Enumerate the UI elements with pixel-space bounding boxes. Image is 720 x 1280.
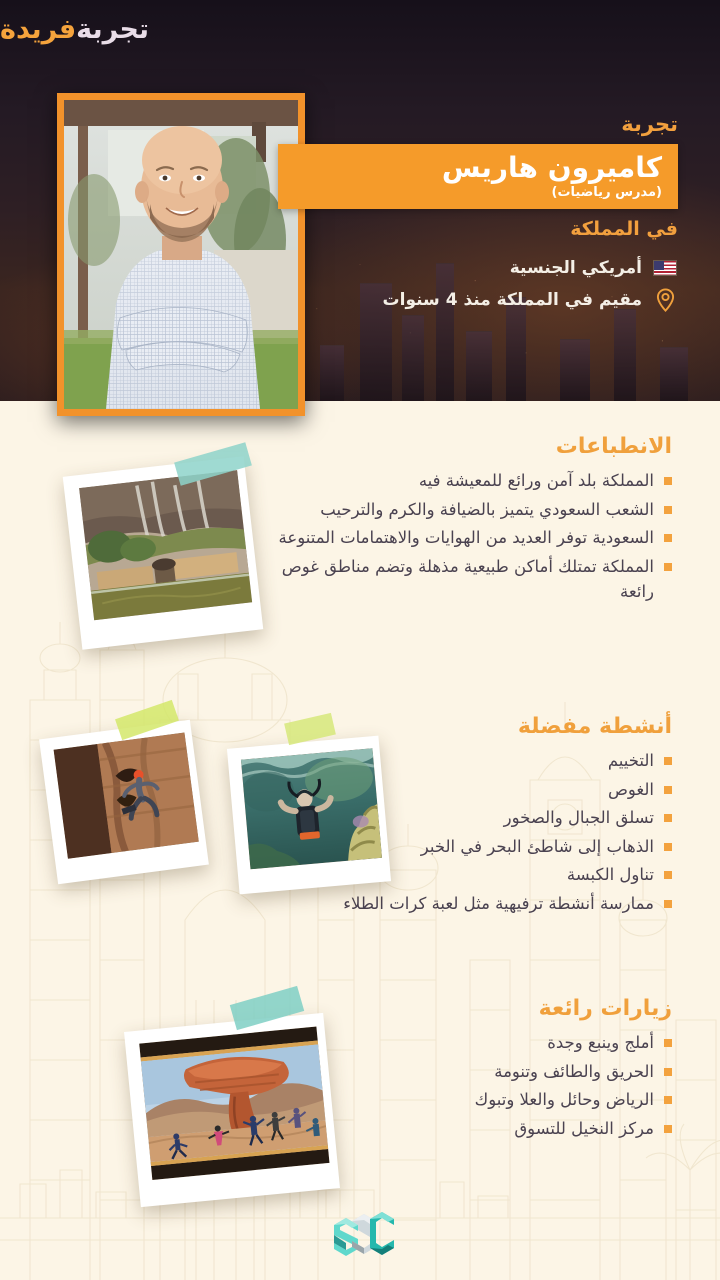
polaroid-diving-photo bbox=[241, 748, 382, 869]
polaroid-diving bbox=[227, 736, 391, 895]
fact-residence-text: مقيم في المملكة منذ 4 سنوات bbox=[383, 290, 642, 310]
polaroid-climbing-photo bbox=[54, 733, 199, 859]
section-title-impressions: الانطباعات bbox=[272, 434, 672, 459]
fact-residence: مقيم في المملكة منذ 4 سنوات bbox=[278, 289, 678, 311]
list-item: المملكة بلد آمن ورائع للمعيشة فيه bbox=[272, 468, 672, 494]
fact-nationality-text: أمريكي الجنسية bbox=[510, 258, 642, 278]
person-name: كاميرون هاريس bbox=[294, 152, 662, 184]
polaroid-rock-photo bbox=[139, 1027, 329, 1180]
hero-info: تجربة كاميرون هاريس (مدرس رياضيات) في ال… bbox=[278, 112, 678, 321]
section-impressions: الانطباعات المملكة بلد آمن ورائع للمعيشة… bbox=[272, 434, 672, 608]
sbc-logo bbox=[330, 1205, 396, 1263]
location-pin-icon bbox=[652, 289, 678, 311]
skyline-tower bbox=[660, 347, 688, 401]
impressions-list: المملكة بلد آمن ورائع للمعيشة فيه الشعب … bbox=[272, 468, 672, 605]
list-item: الشعب السعودي يتميز بالضيافة والكرم والت… bbox=[272, 497, 672, 523]
hero-facts: أمريكي الجنسية مقيم في المملكة منذ 4 سنو… bbox=[278, 257, 678, 311]
skyline-tower bbox=[402, 315, 424, 401]
list-item: ممارسة أنشطة ترفيهية مثل لعبة كرات الطلا… bbox=[272, 891, 672, 917]
fact-nationality: أمريكي الجنسية bbox=[278, 257, 678, 279]
name-banner: كاميرون هاريس (مدرس رياضيات) bbox=[278, 144, 678, 209]
polaroid-waterfall bbox=[63, 456, 264, 649]
portrait-frame bbox=[57, 93, 305, 416]
list-item: أملج وينبع وجدة bbox=[272, 1030, 672, 1056]
infographic-page: تجربةفريدة bbox=[0, 0, 720, 1280]
in-kingdom-label: في المملكة bbox=[278, 218, 678, 240]
skyline-tower bbox=[320, 345, 344, 401]
us-flag-icon bbox=[652, 257, 678, 279]
list-item: المملكة تمتلك أماكن طبيعية مذهلة وتضم من… bbox=[272, 554, 672, 605]
skyline-tower bbox=[466, 331, 492, 401]
section-title-visits: زيارات رائعة bbox=[272, 996, 672, 1021]
page-title-light: تجربة bbox=[76, 14, 149, 45]
page-title: تجربةفريدة bbox=[0, 14, 690, 45]
polaroid-waterfall-photo bbox=[79, 470, 252, 620]
page-title-accent: فريدة bbox=[0, 14, 76, 45]
person-role: (مدرس رياضيات) bbox=[294, 185, 662, 200]
experience-label: تجربة bbox=[278, 112, 678, 137]
list-item: السعودية توفر العديد من الهوايات والاهتم… bbox=[272, 525, 672, 551]
skyline-tower bbox=[614, 309, 636, 401]
portrait-photo bbox=[64, 100, 298, 409]
skyline-tower bbox=[560, 339, 590, 401]
list-item: الحريق والطائف وتنومة bbox=[272, 1059, 672, 1085]
polaroid-rock bbox=[124, 1013, 340, 1207]
polaroid-climbing bbox=[39, 720, 209, 885]
